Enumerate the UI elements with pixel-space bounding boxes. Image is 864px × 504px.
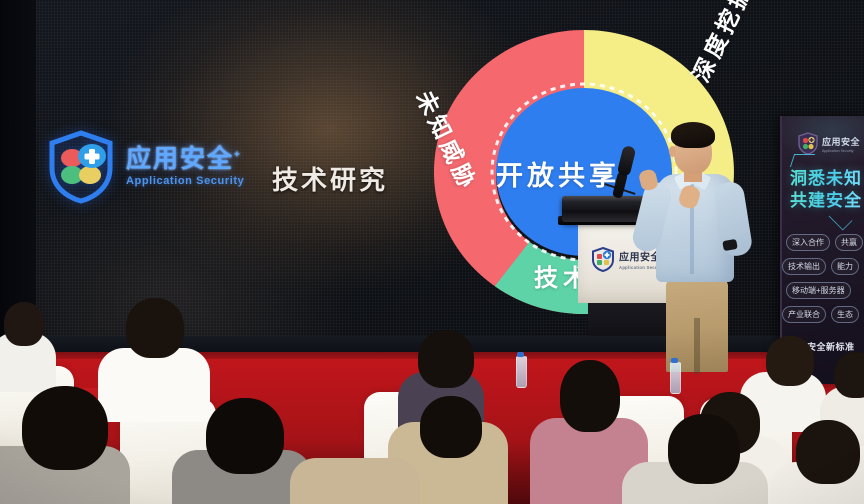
banner-pill: 移动端+服务器 [786, 282, 851, 299]
banner-pill: 共赢 [835, 234, 863, 251]
conference-photo: 应用安全+ Application Security 技术研究 未知威胁 深度挖… [0, 0, 864, 504]
attendee-head [206, 398, 284, 474]
banner-pill: 能力 [831, 258, 859, 275]
banner-pill: 技术输出 [782, 258, 826, 275]
speaker-ear [669, 146, 676, 157]
attendee-shoulders [290, 458, 420, 504]
banner-pill-list: 深入合作 共赢 技术输出 能力 移动端+服务器 产业联合 生态 [782, 234, 864, 330]
banner-logo: 应用安全 Application Security [798, 132, 860, 155]
speaker-leg-seam [694, 318, 700, 374]
attendee-head [126, 298, 184, 358]
banner-pill-row: 技术输出 能力 [782, 258, 864, 275]
banner-pill-row: 移动端+服务器 [782, 282, 864, 299]
brand-name-en: Application Security [126, 176, 244, 187]
speaker-person [646, 112, 754, 360]
attendee-shoulders [98, 348, 210, 422]
attendee-head [796, 420, 860, 484]
banner-pill: 生态 [831, 306, 859, 323]
screen-subject-title: 技术研究 [272, 160, 388, 197]
banner-pill: 深入合作 [786, 234, 830, 251]
banner-shield-icon [798, 132, 818, 155]
banner-pill-row: 产业联合 生态 [782, 306, 864, 323]
brand-name-cn: 应用安全+ [126, 147, 244, 172]
shield-logo-icon [48, 130, 114, 204]
bottle-cap [671, 358, 678, 363]
attendee-head [766, 336, 814, 386]
banner-headline-line2: 共建安全 [790, 186, 862, 211]
speaker-hair [671, 122, 715, 148]
brand-text-block: 应用安全+ Application Security [126, 147, 244, 187]
water-bottle [670, 362, 681, 394]
screen-logo-lockup: 应用安全+ Application Security [48, 130, 244, 204]
banner-logo-text: 应用安全 Application Security [822, 135, 860, 153]
bottle-cap [517, 352, 524, 357]
attendee-head [418, 330, 474, 388]
attendee-head [22, 386, 108, 470]
banner-pill-row: 深入合作 共赢 [782, 234, 864, 251]
water-bottle [516, 356, 527, 388]
donut-center-label: 开放共享 [496, 154, 620, 193]
attendee-head [834, 352, 864, 398]
attendee-head [420, 396, 482, 458]
attendee-head [668, 414, 740, 484]
podium-shield-icon [592, 247, 614, 272]
attendee-head [4, 302, 44, 346]
banner-pill: 产业联合 [782, 306, 826, 323]
attendee-head [560, 360, 620, 432]
